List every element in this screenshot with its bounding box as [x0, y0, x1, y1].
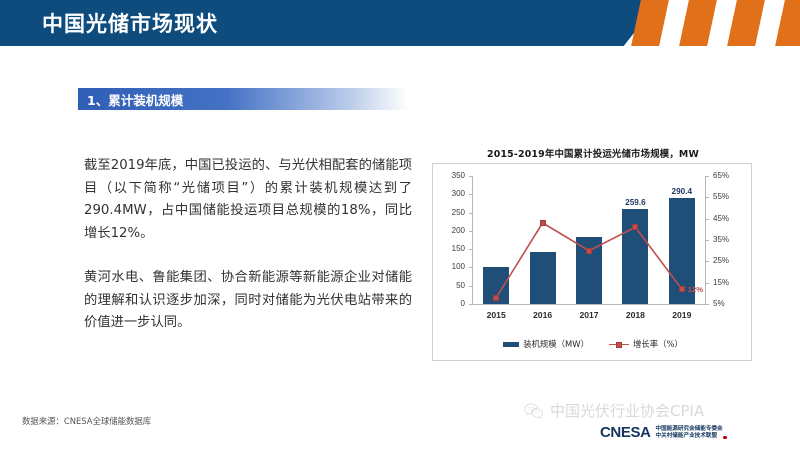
y-tick-label-right: 65%: [713, 172, 743, 180]
cnesa-sub-line-2: 中关村储能产业技术联盟: [656, 433, 723, 440]
y-tick-label-left: 50: [431, 282, 465, 290]
y-tick-label-right: 35%: [713, 236, 743, 244]
cnesa-footer-logo: CNESA 中国能源研究会储能专委会 中关村储能产业技术联盟: [600, 424, 723, 441]
legend-bar-label: 装机规模（MW）: [523, 338, 589, 350]
chart-title: 2015-2019年中国累计投运光储市场规模，MW: [432, 146, 754, 160]
section-subheading: 1、累计装机规模: [78, 88, 408, 110]
line-series: [473, 176, 705, 304]
y-tick-label-left: 200: [431, 227, 465, 235]
cnesa-sub-block: 中国能源研究会储能专委会 中关村储能产业技术联盟: [656, 426, 723, 440]
legend-item-line: 增长率（%）: [609, 338, 683, 350]
y-tick-label-right: 25%: [713, 257, 743, 265]
y-tick-right: [705, 261, 709, 262]
page-title: 中国光储市场现状: [42, 8, 218, 38]
y-tick-label-left: 150: [431, 245, 465, 253]
line-marker: [586, 248, 592, 254]
legend-line-label: 增长率（%）: [633, 338, 683, 350]
y-tick-right: [705, 240, 709, 241]
chart-legend: 装机规模（MW） 增长率（%）: [433, 338, 753, 350]
cnesa-sub-line-1: 中国能源研究会储能专委会: [656, 426, 723, 433]
chart-plot-area: 050100150200250300350 5%15%25%35%45%55%6…: [432, 163, 752, 361]
x-tick-label: 2016: [521, 310, 565, 320]
legend-line-swatch: [609, 341, 629, 348]
y-tick-label-right: 55%: [713, 193, 743, 201]
line-marker: [540, 220, 546, 226]
y-tick-label-left: 300: [431, 190, 465, 198]
cnesa-wordmark: CNESA: [600, 424, 651, 441]
x-tick-label: 2018: [613, 310, 657, 320]
line-marker: [632, 224, 638, 230]
cnesa-dot-accent: [723, 436, 727, 440]
legend-bar-swatch: [503, 342, 519, 347]
section-subheading-label: 1、累计装机规模: [78, 90, 183, 109]
chart-container: 2015-2019年中国累计投运光储市场规模，MW 05010015020025…: [432, 146, 754, 364]
y-tick-right: [705, 219, 709, 220]
cpia-label: 中国光伏行业协会CPIA: [550, 400, 704, 421]
cpia-footer-logo: 中国光伏行业协会CPIA: [524, 400, 704, 421]
slide: 中国光储市场现状 1、累计装机规模 截至2019年底，中国已投运的、与光伏相配套…: [0, 0, 800, 449]
line-marker: [493, 295, 499, 301]
header-stripe-3: [727, 0, 765, 46]
line-marker: [679, 286, 685, 292]
wechat-icon: [524, 403, 544, 419]
y-tick-label-right: 15%: [713, 279, 743, 287]
plot-series-area: 259.6290.4 12%: [473, 176, 705, 304]
y-tick-right: [705, 176, 709, 177]
y-tick-label-left: 350: [431, 172, 465, 180]
x-tick-label: 2017: [567, 310, 611, 320]
y-tick-label-right: 5%: [713, 300, 743, 308]
x-tick-label: 2019: [660, 310, 704, 320]
y-tick-label-left: 0: [431, 300, 465, 308]
y-tick-right: [705, 197, 709, 198]
header-stripe-4: [775, 0, 800, 46]
y-tick-left: [469, 304, 473, 305]
slide-header: 中国光储市场现状: [0, 0, 800, 46]
paragraph-1: 截至2019年底，中国已投运的、与光伏相配套的储能项目（以下简称“光储项目”）的…: [84, 155, 412, 245]
y-tick-label-left: 250: [431, 209, 465, 217]
header-stripe-2: [679, 0, 717, 46]
body-text-column: 截至2019年底，中国已投运的、与光伏相配套的储能项目（以下简称“光储项目”）的…: [84, 155, 412, 357]
data-source-note: 数据来源：CNESA全球储能数据库: [22, 415, 151, 427]
y-tick-right: [705, 304, 709, 305]
y-tick-label-left: 100: [431, 263, 465, 271]
y-tick-right: [705, 283, 709, 284]
x-axis-line: [472, 304, 706, 305]
paragraph-2: 黄河水电、鲁能集团、协合新能源等新能源企业对储能的理解和认识逐步加深，同时对储能…: [84, 267, 412, 335]
x-tick-label: 2015: [474, 310, 518, 320]
y-tick-label-right: 45%: [713, 215, 743, 223]
line-value-label: 12%: [688, 285, 703, 294]
legend-item-bar: 装机规模（MW）: [503, 338, 589, 350]
